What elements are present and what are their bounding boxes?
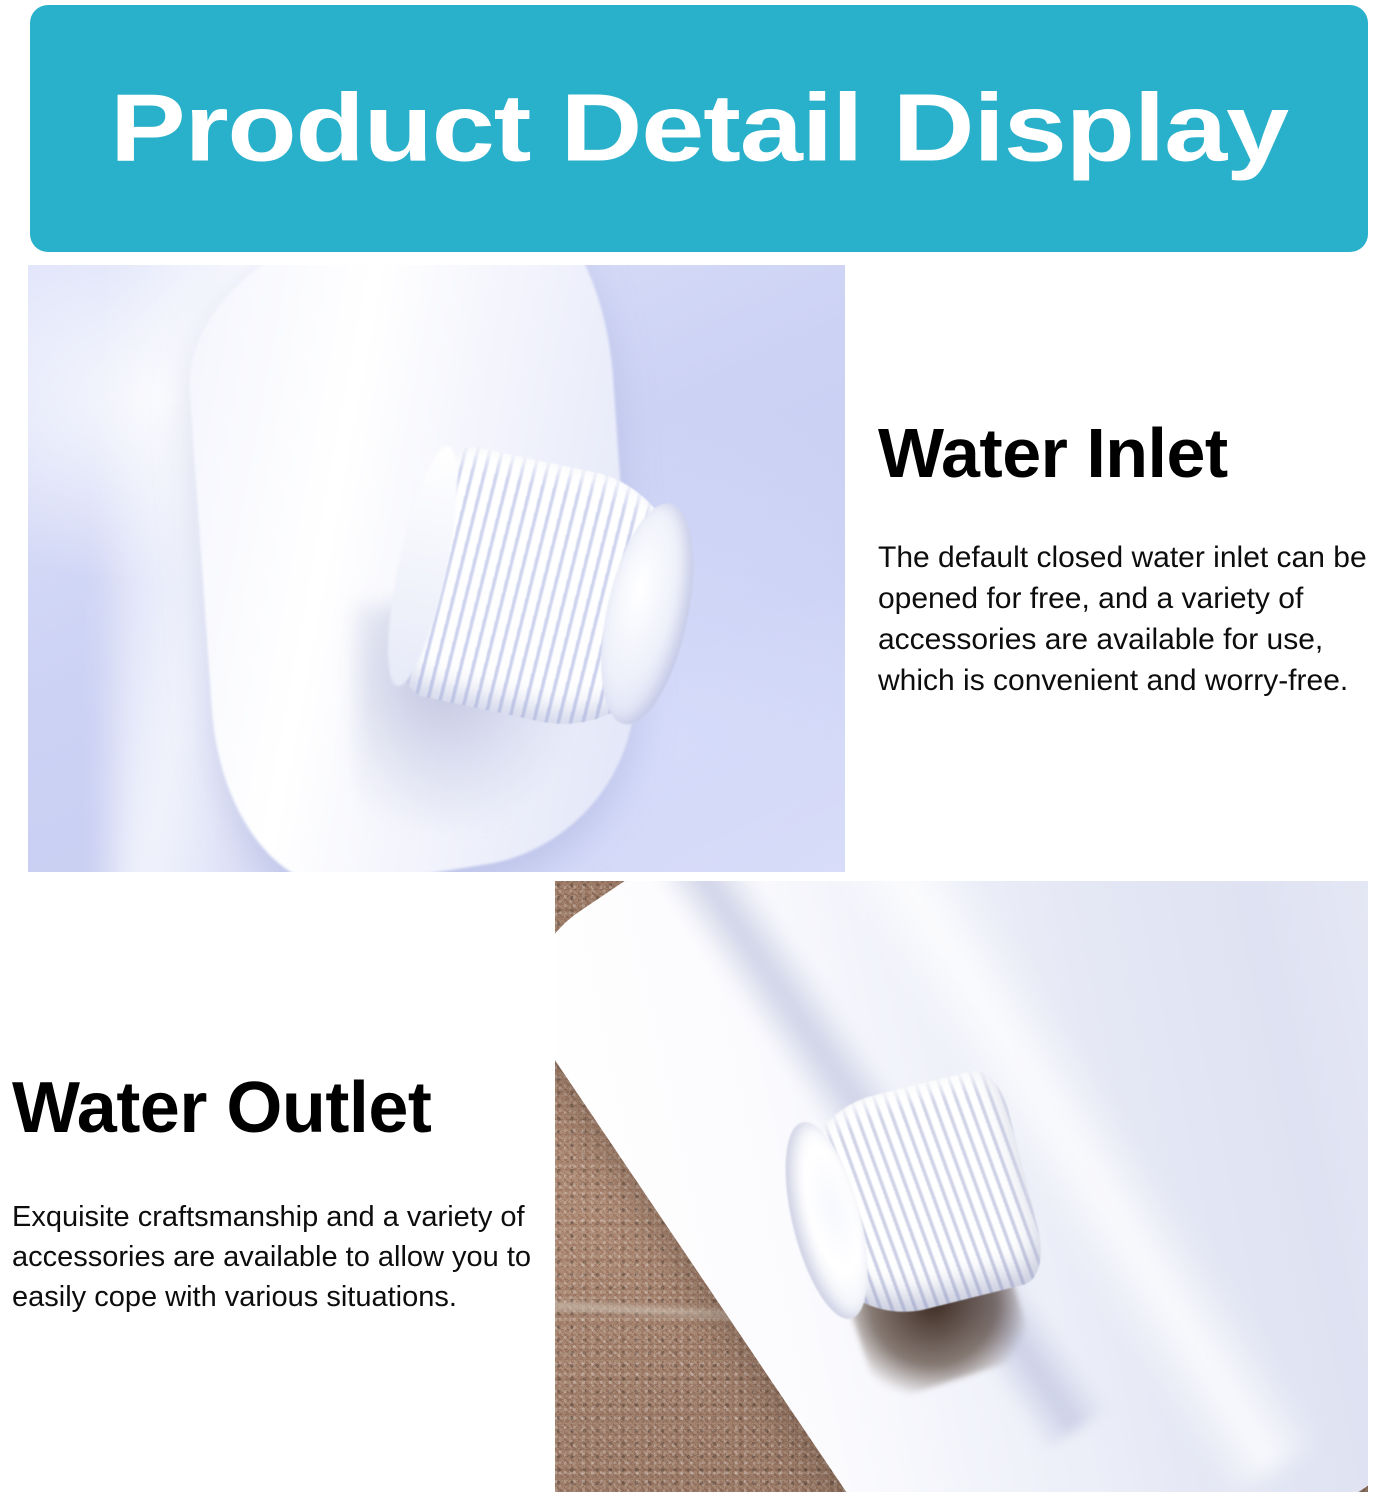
water-inlet-description: The default closed water inlet can be op…	[878, 537, 1374, 701]
water-outlet-photo	[555, 881, 1368, 1492]
water-inlet-heading: Water Inlet	[878, 418, 1374, 489]
water-outlet-heading: Water Outlet	[12, 1072, 542, 1145]
water-outlet-description: Exquisite craftsmanship and a variety of…	[12, 1197, 542, 1317]
water-outlet-text-block: Water Outlet Exquisite craftsmanship and…	[12, 1072, 542, 1317]
header-banner: Product Detail Display	[30, 5, 1368, 252]
water-inlet-text-block: Water Inlet The default closed water inl…	[878, 418, 1374, 701]
page-title: Product Detail Display	[110, 78, 1288, 179]
water-inlet-photo	[28, 265, 845, 872]
